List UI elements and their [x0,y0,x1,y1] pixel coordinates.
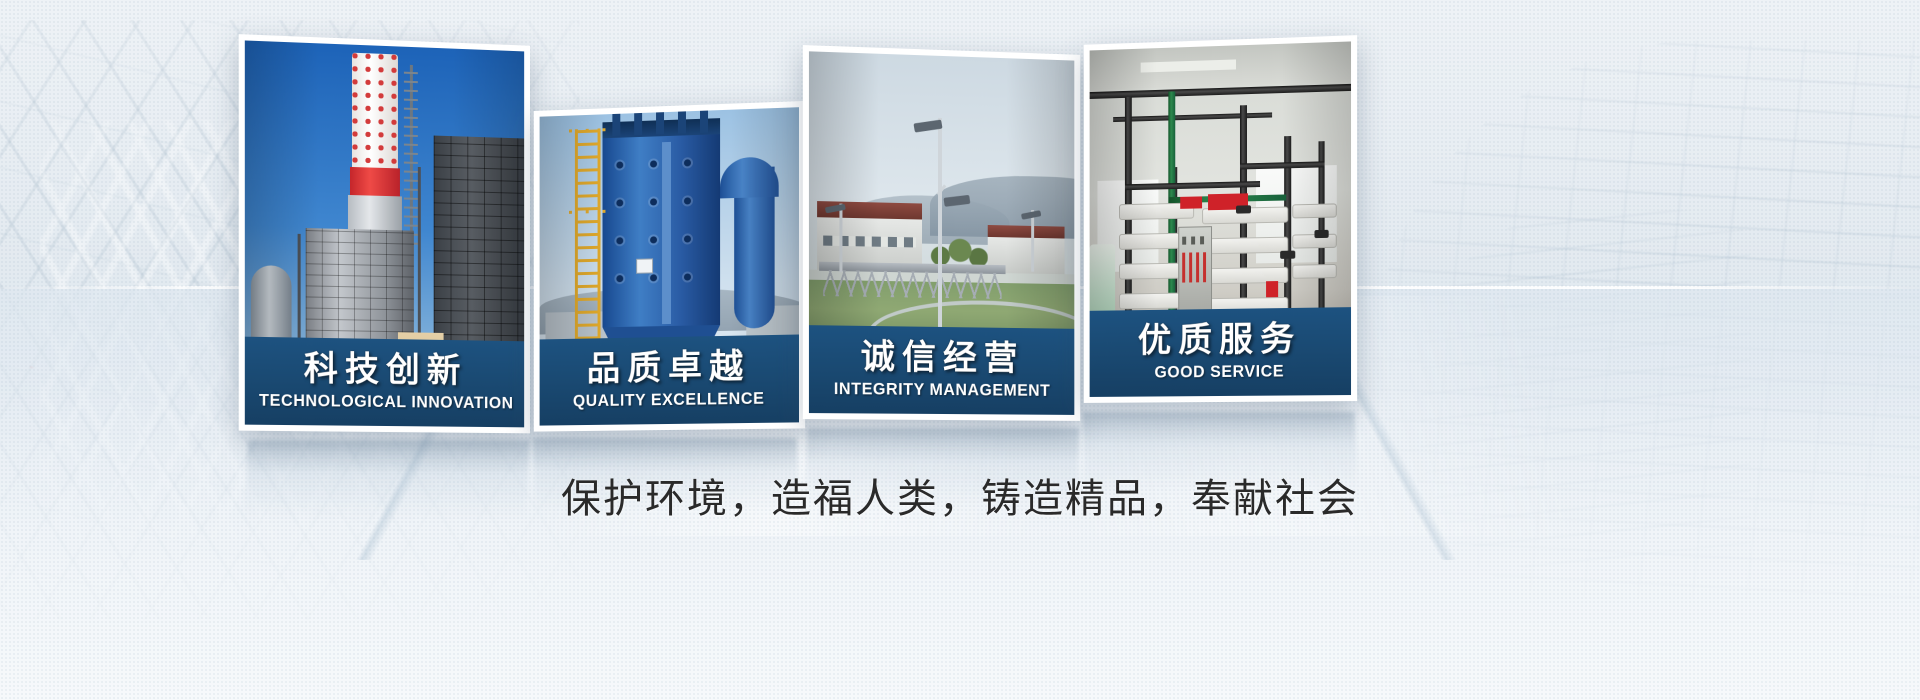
caption-cn-3: 诚信经营 [815,337,1068,378]
panel-technological-innovation[interactable]: 科技创新 TECHNOLOGICAL INNOVATION [239,34,530,433]
panel-quality-excellence[interactable]: 品质卓越 QUALITY EXCELLENCE [534,101,805,432]
caption-cn-2: 品质卓越 [545,347,792,389]
caption-quality-excellence: 品质卓越 QUALITY EXCELLENCE [540,334,799,425]
caption-cn-1: 科技创新 [251,349,518,391]
caption-cn-4: 优质服务 [1096,319,1345,360]
caption-en-1: TECHNOLOGICAL INNOVATION [259,390,510,413]
panel-stage: 科技创新 TECHNOLOGICAL INNOVATION [0,0,1920,700]
panel-3-inner: 诚信经营 INTEGRITY MANAGEMENT [809,51,1074,415]
panel-2-inner: 品质卓越 QUALITY EXCELLENCE [540,107,799,425]
panel-good-service[interactable]: 优质服务 GOOD SERVICE [1084,35,1357,403]
promotional-banner: 科技创新 TECHNOLOGICAL INNOVATION [0,0,1920,700]
caption-integrity-management: 诚信经营 INTEGRITY MANAGEMENT [809,325,1074,415]
caption-en-3: INTEGRITY MANAGEMENT [823,379,1061,401]
caption-good-service: 优质服务 GOOD SERVICE [1090,307,1351,397]
panel-integrity-management[interactable]: 诚信经营 INTEGRITY MANAGEMENT [803,45,1080,421]
panel-1-inner: 科技创新 TECHNOLOGICAL INNOVATION [245,40,524,427]
banner-tagline: 保护环境，造福人类，铸造精品，奉献社会 [0,466,1920,524]
caption-en-2: QUALITY EXCELLENCE [553,388,786,411]
panel-4-inner: 优质服务 GOOD SERVICE [1090,41,1351,397]
caption-en-4: GOOD SERVICE [1103,361,1337,383]
caption-technological-innovation: 科技创新 TECHNOLOGICAL INNOVATION [245,337,524,428]
